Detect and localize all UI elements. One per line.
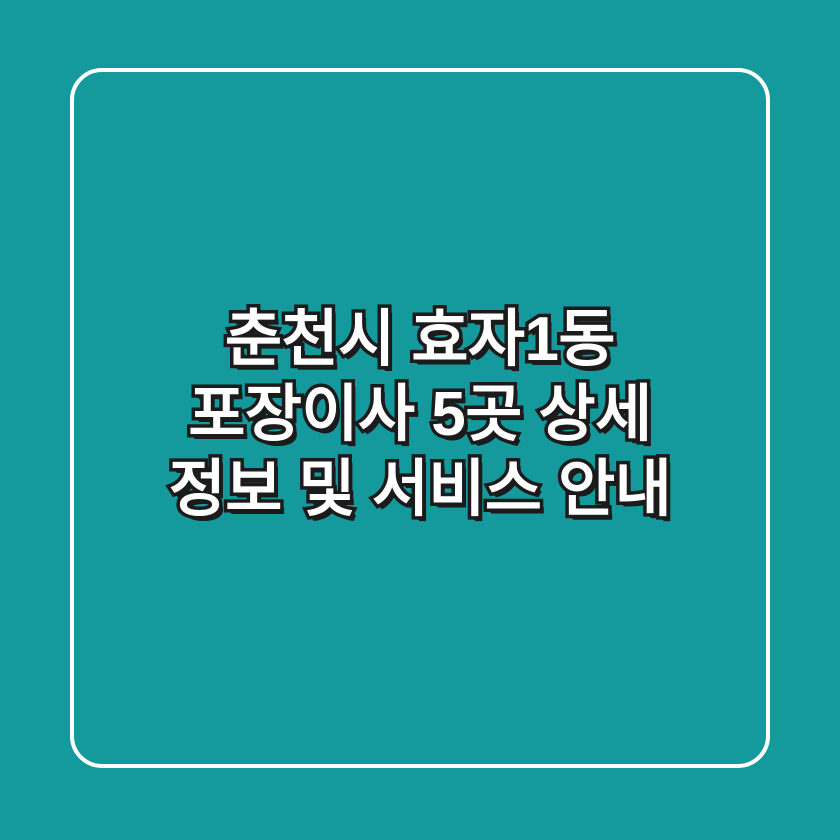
headline-line-3: 정보 및 서비스 안내 [0, 452, 840, 527]
poster-canvas: 춘천시 효자1동 포장이사 5곳 상세 정보 및 서비스 안내 [0, 0, 840, 840]
headline-line-1: 춘천시 효자1동 [0, 302, 840, 377]
headline-block: 춘천시 효자1동 포장이사 5곳 상세 정보 및 서비스 안내 [0, 0, 840, 840]
headline-line-2: 포장이사 5곳 상세 [0, 377, 840, 452]
